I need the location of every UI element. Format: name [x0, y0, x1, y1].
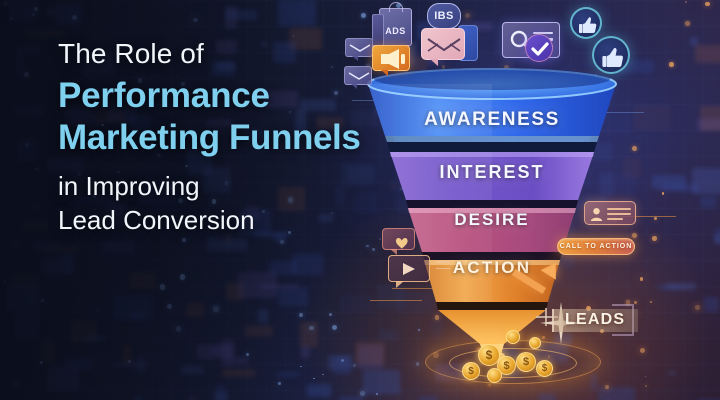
headline-line-2: Performance: [58, 75, 368, 117]
bag-handle: [389, 2, 403, 12]
headline-line-4: in Improving: [58, 171, 368, 202]
thumbs-up-icon: [570, 7, 602, 39]
coin-symbol: $: [503, 360, 509, 372]
profile-card-icon: [584, 201, 636, 225]
coin-symbol: $: [523, 356, 529, 368]
megaphone-icon: [372, 45, 410, 71]
coin-stack-icon: $: [536, 360, 553, 377]
coin-symbol: $: [468, 366, 474, 377]
cta-label: CALL TO ACTION: [560, 243, 633, 250]
video-play-icon[interactable]: [388, 255, 430, 282]
leads-label: LEADS: [565, 311, 625, 328]
heart-bubble-icon: [382, 228, 415, 250]
video-meta-lines: [436, 261, 450, 274]
call-to-action-button[interactable]: CALL TO ACTION: [557, 238, 635, 255]
coin-stack-icon: [506, 330, 520, 344]
headline-line-5: Lead Conversion: [58, 205, 368, 236]
ads-bag-label: ADS: [380, 26, 411, 36]
play-triangle: [403, 263, 415, 275]
poster-canvas: The Role of Performance Marketing Funnel…: [0, 0, 720, 400]
coin-symbol: $: [542, 363, 548, 374]
coin-stack-icon: $: [516, 352, 536, 372]
ibs-badge-icon: IBS: [427, 3, 461, 29]
coin-stack-icon: [487, 368, 502, 383]
mail-envelope-large-icon: [421, 28, 465, 60]
headline-line-3: Marketing Funnels: [58, 117, 368, 159]
ibs-badge-label: IBS: [434, 10, 454, 22]
thumbs-up-secondary-icon: [592, 36, 630, 74]
headline-block: The Role of Performance Marketing Funnel…: [58, 38, 368, 236]
coin-symbol: $: [486, 348, 493, 362]
verified-check-icon: [525, 34, 553, 62]
leads-label-plate: LEADS: [552, 309, 638, 332]
headline-line-1: The Role of: [58, 38, 368, 69]
coin-stack-icon: $: [462, 362, 480, 380]
shopping-bag-ads-icon: ADS: [379, 8, 412, 46]
profile-card-lines: [607, 208, 631, 223]
avatar-icon: [590, 207, 603, 221]
